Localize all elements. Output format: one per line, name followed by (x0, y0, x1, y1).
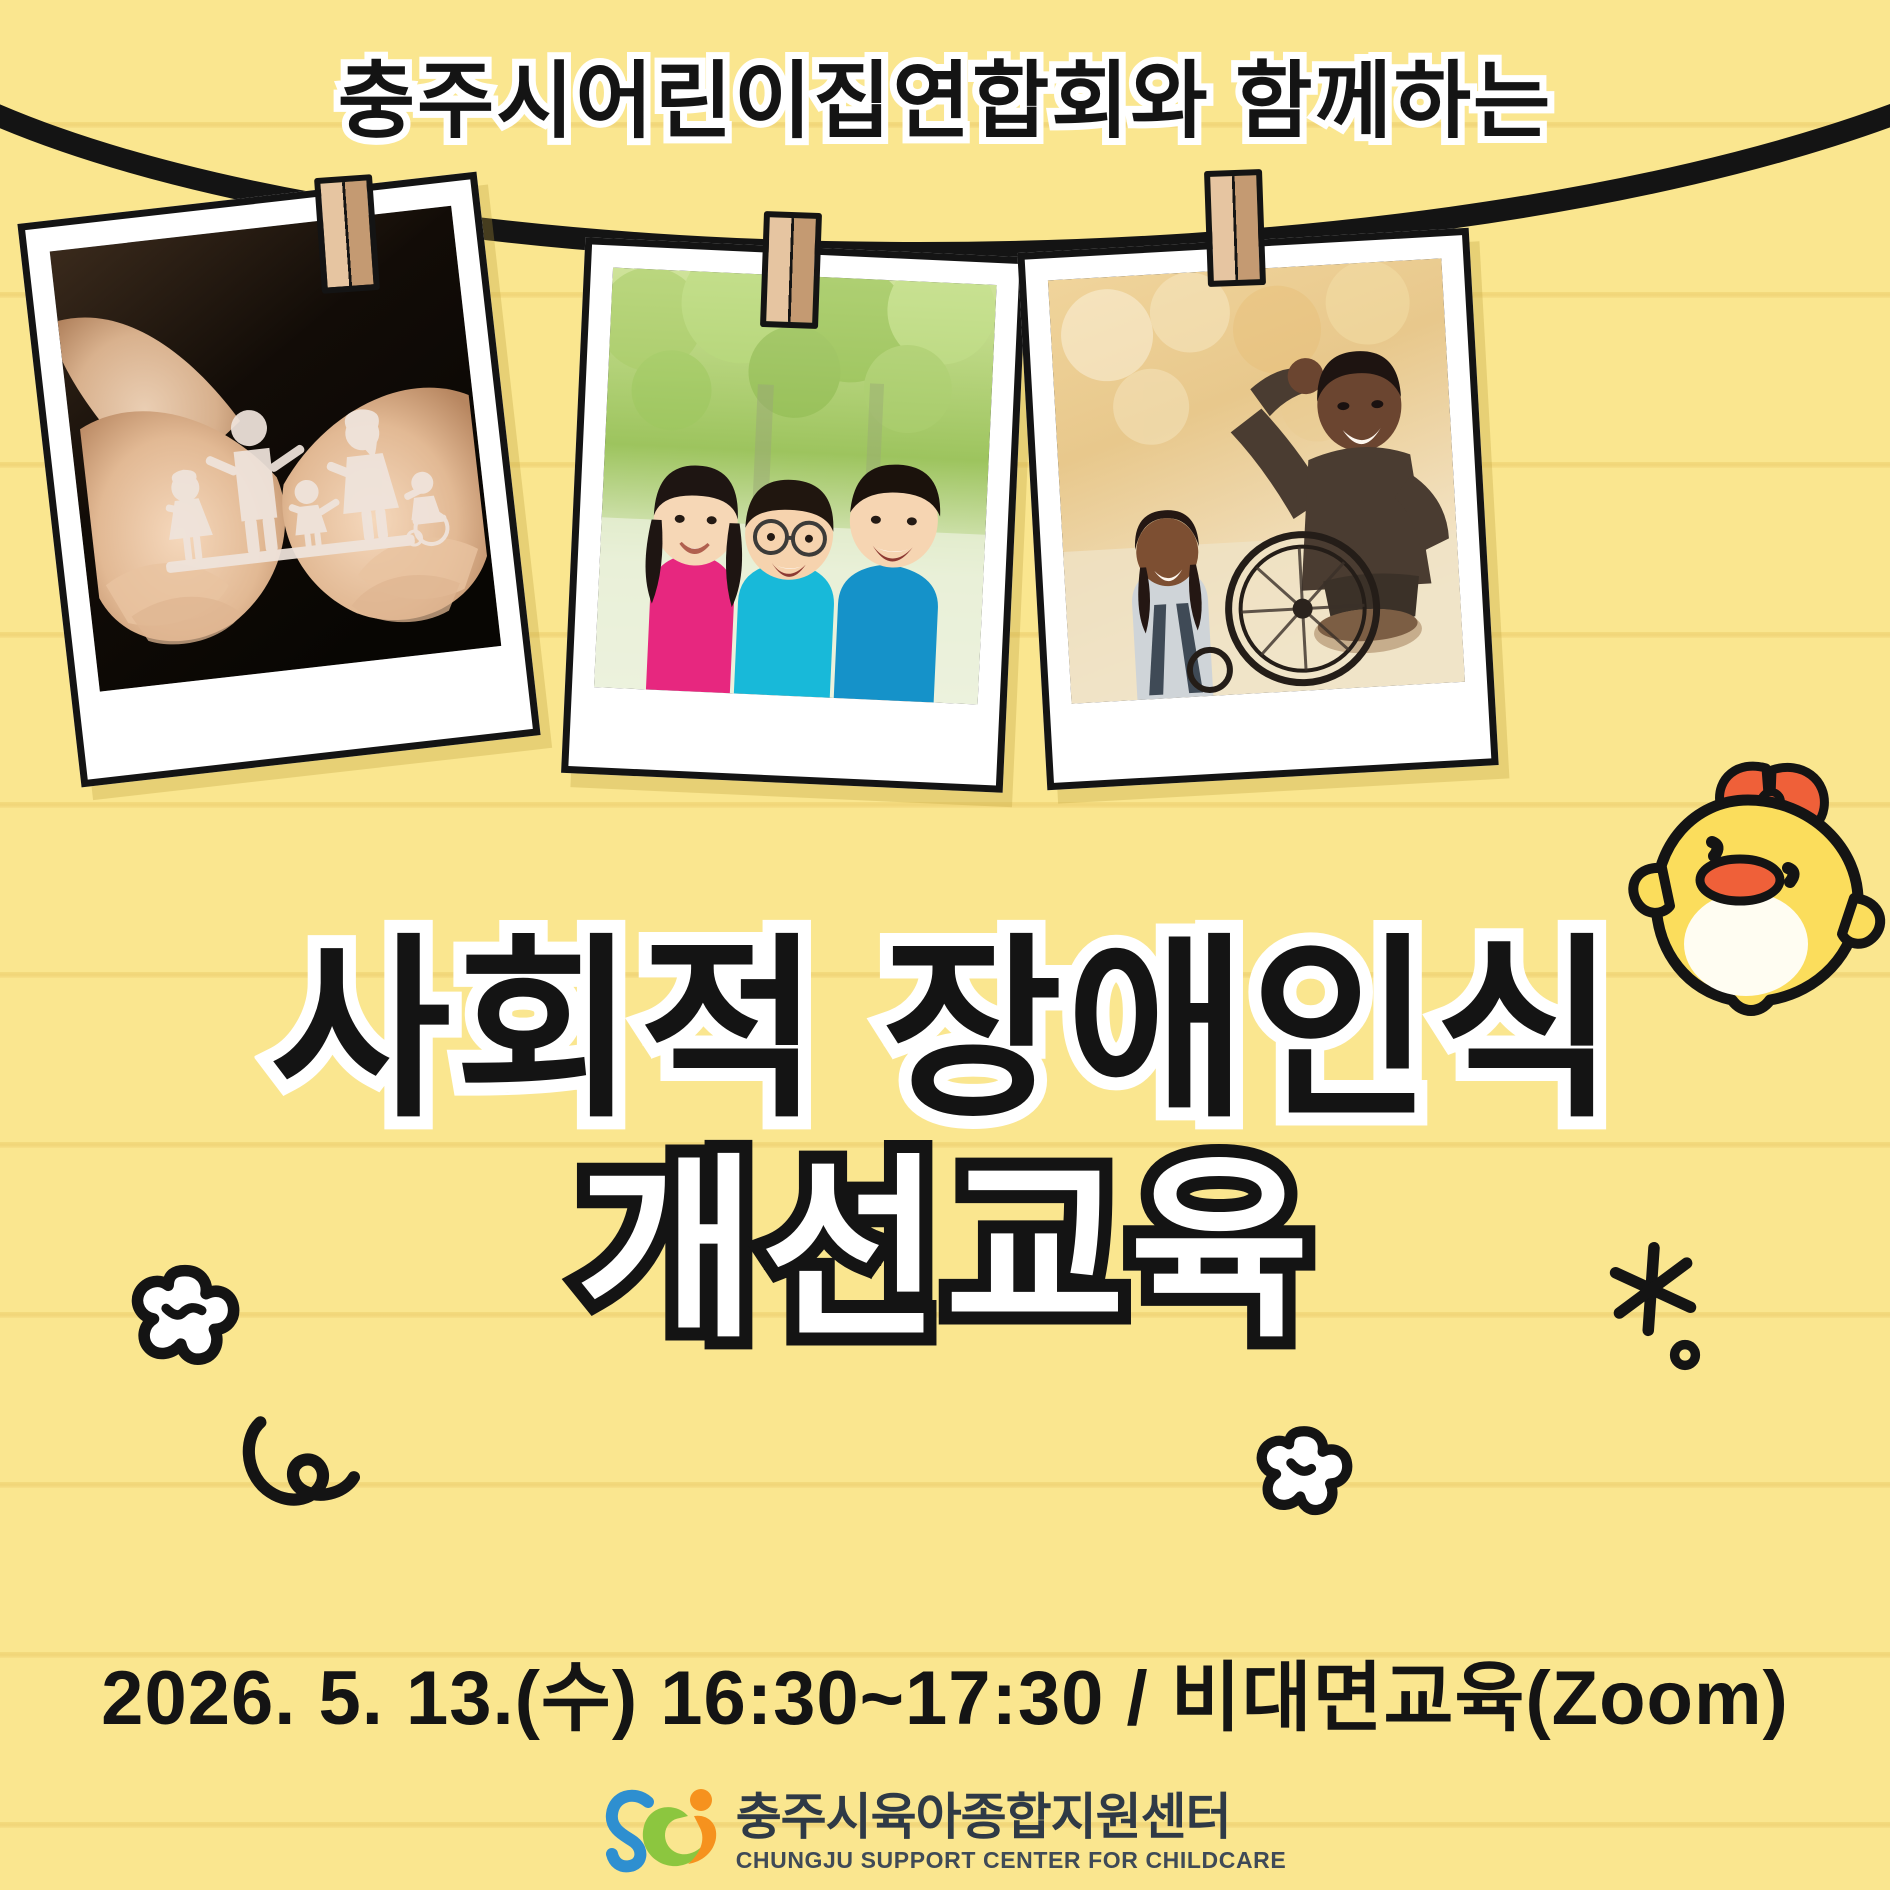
chick-mascot (1620, 758, 1890, 1046)
event-date-time: 2026. 5. 13.(수) 16:30~17:30 / 비대면교육(Zoom… (0, 1636, 1890, 1746)
flower-right-icon (1248, 1420, 1360, 1532)
photo-hands-holding-paper-family (17, 172, 540, 788)
dot-icon (1668, 1338, 1702, 1372)
photo-wheelchair-user-celebrating (1017, 228, 1498, 790)
sc-logo-icon (604, 1784, 722, 1880)
photo-1-image (50, 206, 502, 692)
clothespin-center (760, 211, 822, 329)
swirl-doodle-icon (238, 1408, 360, 1520)
poster-canvas: 충주시어린이집연합회와 함께하는 (0, 0, 1890, 1890)
main-title-line-1: 사회적 장애인식 (0, 930, 1890, 1132)
footer-logo: 충주시육아종합지원센터 CHUNGJU SUPPORT CENTER FOR C… (0, 1784, 1890, 1880)
sparkle-icon (1606, 1240, 1702, 1340)
logo-text-block: 충주시육아종합지원센터 CHUNGJU SUPPORT CENTER FOR C… (736, 1792, 1287, 1872)
logo-korean-name: 충주시육아종합지원센터 (736, 1792, 1287, 1842)
photo-3-image (1048, 258, 1465, 703)
header-title: 충주시어린이집연합회와 함께하는 (0, 34, 1890, 155)
clothespin-right (1204, 169, 1266, 287)
logo-english-name: CHUNGJU SUPPORT CENTER FOR CHILDCARE (736, 1849, 1287, 1872)
flower-left-icon (122, 1258, 248, 1384)
photo-2-image (594, 268, 997, 705)
clothespin-left (314, 174, 380, 294)
